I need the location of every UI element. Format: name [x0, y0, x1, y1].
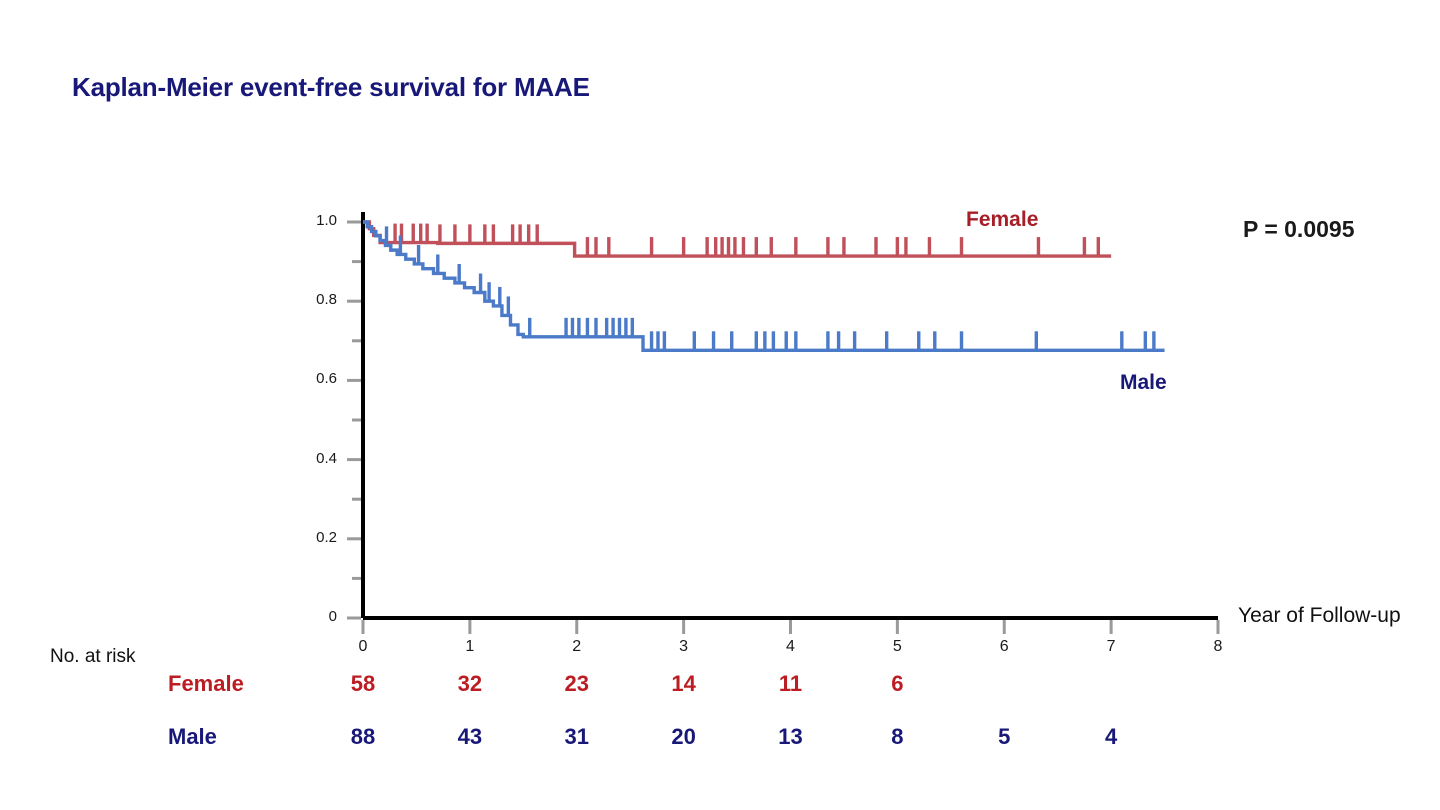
risk-value: 31 [555, 724, 599, 750]
y-axis-tick-label: 1.0 [291, 212, 337, 229]
y-axis-tick-label: 0.4 [291, 450, 337, 467]
risk-value: 20 [662, 724, 706, 750]
y-axis-tick-label: 0.6 [291, 370, 337, 387]
y-axis-tick-label: 0 [291, 608, 337, 625]
x-axis-tick-label: 1 [453, 638, 487, 656]
risk-value: 23 [555, 671, 599, 697]
risk-value: 14 [662, 671, 706, 697]
x-axis-tick-label: 4 [774, 638, 808, 656]
risk-value: 4 [1089, 724, 1133, 750]
y-axis-tick-label: 0.2 [291, 529, 337, 546]
x-axis-tick-label: 7 [1094, 638, 1128, 656]
risk-value: 58 [341, 671, 385, 697]
risk-value: 13 [769, 724, 813, 750]
risk-value: 32 [448, 671, 492, 697]
x-axis-tick-label: 0 [346, 638, 380, 656]
risk-value: 43 [448, 724, 492, 750]
plot-canvas [0, 0, 1440, 810]
x-axis-tick-label: 5 [880, 638, 914, 656]
risk-value: 88 [341, 724, 385, 750]
x-axis-tick-label: 2 [560, 638, 594, 656]
y-axis-tick-label: 0.8 [291, 291, 337, 308]
survival-curve-female [363, 222, 1111, 256]
risk-value: 6 [875, 671, 919, 697]
risk-value: 8 [875, 724, 919, 750]
x-axis-tick-label: 3 [667, 638, 701, 656]
x-axis-tick-label: 6 [987, 638, 1021, 656]
kaplan-meier-figure: Kaplan-Meier event-free survival for MAA… [0, 0, 1440, 810]
risk-value: 5 [982, 724, 1026, 750]
risk-value: 11 [769, 671, 813, 697]
x-axis-tick-label: 8 [1201, 638, 1235, 656]
